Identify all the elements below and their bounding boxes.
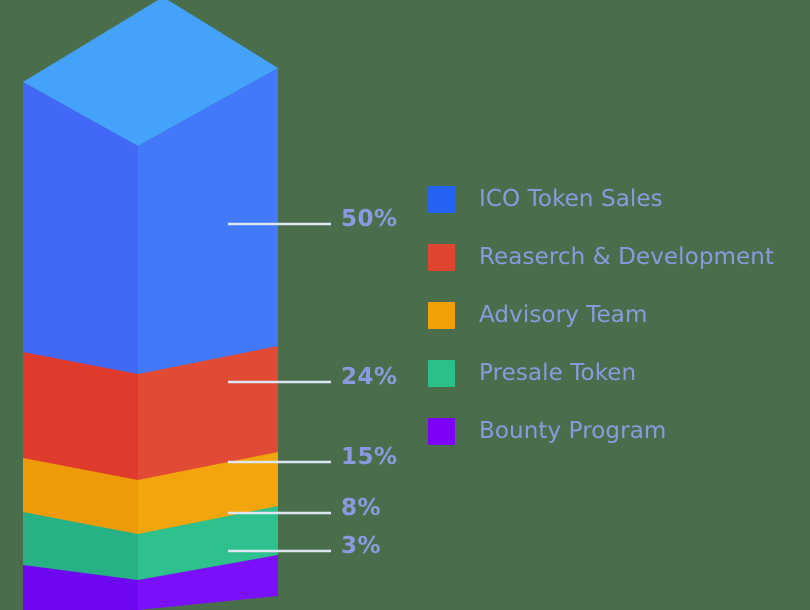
legend-label-advisory: Advisory Team (479, 302, 647, 328)
legend-item-advisory[interactable]: Advisory Team (428, 286, 804, 344)
legend-swatch-icon-advisory (428, 302, 455, 329)
legend-label-rnd: Reaserch & Development (479, 244, 774, 270)
token-distribution-chart: 50% 24% 15% 8% 3% ICO Token Sales Reaser… (0, 0, 810, 610)
legend-item-bounty[interactable]: Bounty Program (428, 402, 804, 460)
segment-ico[interactable] (23, 0, 278, 374)
legend-item-rnd[interactable]: Reaserch & Development (428, 228, 804, 286)
legend-label-ico: ICO Token Sales (479, 186, 663, 212)
percent-label-ico: 50% (341, 208, 398, 231)
percent-label-rnd: 24% (341, 366, 398, 389)
legend-swatch-icon-ico (428, 186, 455, 213)
legend-swatch-icon-bounty (428, 418, 455, 445)
legend-label-bounty: Bounty Program (479, 418, 666, 444)
percent-label-bounty: 3% (341, 535, 381, 558)
chart-legend: ICO Token Sales Reaserch & Development A… (428, 170, 804, 460)
legend-swatch-icon-rnd (428, 244, 455, 271)
legend-swatch-icon-presale (428, 360, 455, 387)
legend-label-presale: Presale Token (479, 360, 636, 386)
percent-label-presale: 8% (341, 497, 381, 520)
legend-item-presale[interactable]: Presale Token (428, 344, 804, 402)
percent-label-advisory: 15% (341, 446, 398, 469)
legend-item-ico[interactable]: ICO Token Sales (428, 170, 804, 228)
